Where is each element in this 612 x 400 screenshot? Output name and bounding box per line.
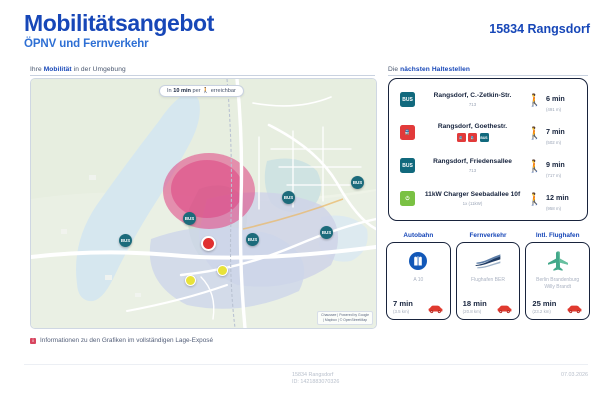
map-container[interactable]: In 10 min per 🚶 erreichbar BUS BUS BUS B… bbox=[30, 78, 377, 329]
map-marker-poi-2[interactable] bbox=[185, 275, 196, 286]
stops-caption-bold: nächsten Haltestellen bbox=[400, 66, 470, 73]
map-marker-bus-6[interactable]: BUS bbox=[119, 234, 132, 247]
stop-lines: 713 bbox=[420, 168, 525, 173]
stop-icon-label: BUS bbox=[400, 92, 415, 107]
map-attribution: Chaussee | Powered by Google | Mapbox | … bbox=[317, 311, 373, 325]
caption-divider-right bbox=[388, 75, 588, 76]
bus-icon: BUS bbox=[397, 92, 418, 107]
walking-person-icon: 🚶 bbox=[527, 94, 542, 106]
stops-section-caption: Die nächsten Haltestellen bbox=[388, 66, 588, 76]
rail-icon: 🚆 bbox=[397, 125, 418, 140]
card-autobahn[interactable]: Autobahn A 10 7 min (3.5 km) bbox=[386, 232, 451, 320]
stop-lines: 1x (11kW) bbox=[420, 201, 525, 206]
card-body: Berlin Brandenburg Willy Brandt 25 min (… bbox=[525, 242, 590, 320]
map-canvas bbox=[31, 79, 376, 328]
stop-walk-info: 🚶 12 min (958 m) bbox=[527, 187, 579, 211]
card-distance: (23.2 km) bbox=[532, 309, 556, 314]
card-footer: 25 min (23.2 km) bbox=[530, 300, 585, 314]
nearest-stops-card: BUS Rangsdorf, C.-Zetkin-Str. 713 🚶 6 mi… bbox=[388, 78, 588, 221]
stop-walk-info: 🚶 9 min (717 m) bbox=[527, 154, 579, 178]
footer-id: ID: 1421883070326 bbox=[292, 379, 339, 386]
footer-center: 15834 Rangsdorf ID: 1421883070326 bbox=[292, 372, 339, 386]
card-caption: Fernverkehr bbox=[470, 232, 507, 239]
map-marker-bus-5[interactable]: BUS bbox=[246, 233, 259, 246]
stop-walk-info: 🚶 6 min (491 m) bbox=[527, 88, 579, 112]
list-item[interactable]: ⏻ 11kW Charger Seebadallee 10f 1x (11kW)… bbox=[397, 182, 579, 215]
card-label: Flughafen BER bbox=[471, 277, 505, 300]
card-body: A 10 7 min (3.5 km) bbox=[386, 242, 451, 320]
card-footer: 7 min (3.5 km) bbox=[391, 300, 446, 314]
stop-info: Rangsdorf, C.-Zetkin-Str. 713 bbox=[418, 92, 527, 107]
footer-divider bbox=[24, 364, 588, 365]
ev-charger-icon: ⏻ bbox=[397, 191, 418, 206]
ev-icon-glyph: ⏻ bbox=[400, 191, 415, 206]
info-icon: i bbox=[30, 338, 36, 344]
stops-caption-pre: Die bbox=[388, 66, 400, 73]
map-caption-bold: Mobilität bbox=[44, 66, 72, 73]
stop-distance: (502 m) bbox=[546, 140, 565, 145]
card-distance: (3.5 km) bbox=[393, 309, 413, 314]
stop-info: 11kW Charger Seebadallee 10f 1x (11kW) bbox=[418, 191, 527, 206]
walking-person-icon: 🚶 bbox=[527, 160, 542, 172]
attribution-line-2: | Mapbox | © OpenStreetMap bbox=[321, 318, 369, 323]
list-item[interactable]: BUS Rangsdorf, C.-Zetkin-Str. 713 🚶 6 mi… bbox=[397, 83, 579, 116]
card-body: Flughafen BER 18 min (20.8 km) bbox=[456, 242, 521, 320]
badge-mid: per bbox=[191, 88, 202, 94]
isochrone-badge: In 10 min per 🚶 erreichbar bbox=[159, 85, 244, 97]
card-time: 25 min bbox=[532, 300, 556, 308]
stop-info: Rangsdorf, Goethestr. 🚆 🚆 BUS bbox=[418, 123, 527, 142]
bus-icon: BUS bbox=[397, 158, 418, 173]
stop-line-badges: 🚆 🚆 BUS bbox=[420, 133, 525, 142]
stop-time: 6 min bbox=[546, 94, 565, 103]
card-footer: 18 min (20.8 km) bbox=[461, 300, 516, 314]
map-marker-bus-4[interactable]: BUS bbox=[282, 191, 295, 204]
list-item[interactable]: 🚆 Rangsdorf, Goethestr. 🚆 🚆 BUS 🚶 7 min … bbox=[397, 116, 579, 149]
card-label: Berlin Brandenburg Willy Brandt bbox=[530, 277, 585, 300]
stop-distance: (717 m) bbox=[546, 173, 565, 178]
card-caption: Autobahn bbox=[403, 232, 433, 239]
footnote: i Informationen zu den Grafiken im volls… bbox=[30, 337, 213, 344]
walking-person-icon: 🚶 bbox=[527, 127, 542, 139]
stop-time: 12 min bbox=[546, 193, 569, 202]
motorway-sign-icon bbox=[408, 249, 428, 273]
stop-name: Rangsdorf, C.-Zetkin-Str. bbox=[420, 92, 525, 100]
list-item[interactable]: BUS Rangsdorf, Friedensallee 713 🚶 9 min… bbox=[397, 149, 579, 182]
stop-distance: (958 m) bbox=[546, 206, 569, 211]
high-speed-train-icon bbox=[474, 249, 502, 273]
badge-post: erreichbar bbox=[209, 88, 236, 94]
card-distance: (20.8 km) bbox=[463, 309, 487, 314]
card-time: 18 min bbox=[463, 300, 487, 308]
stop-lines: 713 bbox=[420, 102, 525, 107]
stop-time: 9 min bbox=[546, 160, 565, 169]
mobility-report-page: Mobilitätsangebot ÖPNV und Fernverkehr 1… bbox=[0, 0, 612, 400]
stop-name: Rangsdorf, Friedensallee bbox=[420, 158, 525, 166]
stop-name: 11kW Charger Seebadallee 10f bbox=[420, 191, 525, 199]
badge-time: 10 min bbox=[173, 88, 191, 94]
map-marker-bus-3[interactable]: BUS bbox=[351, 176, 364, 189]
footer-date: 07.03.2026 bbox=[561, 372, 588, 378]
card-caption: Intl. Flughafen bbox=[536, 232, 580, 239]
footer-location: 15834 Rangsdorf bbox=[292, 372, 339, 379]
map-caption-pre: Ihre bbox=[30, 66, 44, 73]
map-marker-poi[interactable] bbox=[217, 265, 228, 276]
map-caption-post: in der Umgebung bbox=[72, 66, 126, 73]
transport-cards: Autobahn A 10 7 min (3.5 km) bbox=[386, 232, 590, 320]
page-footer: 15834 Rangsdorf ID: 1421883070326 07.03.… bbox=[0, 370, 612, 396]
page-subtitle: ÖPNV und Fernverkehr bbox=[24, 38, 590, 50]
bus-line-badge: BUS bbox=[480, 133, 489, 142]
rail-line-badge-2: 🚆 bbox=[468, 133, 477, 142]
car-icon bbox=[496, 304, 513, 314]
map-marker-bus-2[interactable]: BUS bbox=[320, 226, 333, 239]
stop-walk-info: 🚶 7 min (502 m) bbox=[527, 121, 579, 145]
stop-name: Rangsdorf, Goethestr. bbox=[420, 123, 525, 131]
stop-icon-label: BUS bbox=[400, 158, 415, 173]
footnote-text: Informationen zu den Grafiken im vollstä… bbox=[40, 337, 213, 344]
walking-person-icon: 🚶 bbox=[527, 193, 542, 205]
car-icon bbox=[566, 304, 583, 314]
location-label: 15834 Rangsdorf bbox=[489, 22, 590, 36]
card-label: A 10 bbox=[413, 277, 423, 300]
map-marker-center[interactable] bbox=[201, 236, 216, 251]
card-fernverkehr[interactable]: Fernverkehr Flughafen BER 18 min (20.8 k… bbox=[456, 232, 521, 320]
stop-time: 7 min bbox=[546, 127, 565, 136]
card-time: 7 min bbox=[393, 300, 413, 308]
stop-distance: (491 m) bbox=[546, 107, 565, 112]
stop-icon-glyph: 🚆 bbox=[400, 125, 415, 140]
car-icon bbox=[427, 304, 444, 314]
card-flughafen[interactable]: Intl. Flughafen Berlin Brandenburg Willy… bbox=[525, 232, 590, 320]
airplane-icon bbox=[546, 249, 570, 273]
map-section-caption: Ihre Mobilität in der Umgebung bbox=[30, 66, 375, 76]
stop-info: Rangsdorf, Friedensallee 713 bbox=[418, 158, 527, 173]
rail-line-badge-1: 🚆 bbox=[457, 133, 466, 142]
map-marker-bus-1[interactable]: BUS bbox=[183, 212, 196, 225]
caption-divider bbox=[30, 75, 375, 76]
